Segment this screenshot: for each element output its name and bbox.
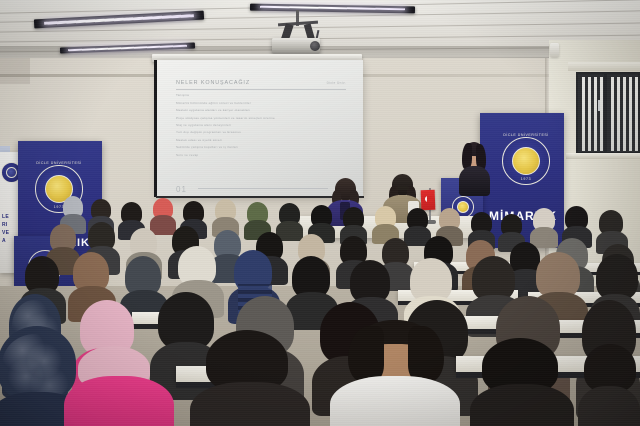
slide-bullet: Soru ve cevap — [176, 153, 346, 157]
wall-beam — [0, 58, 30, 84]
audience-member — [212, 199, 239, 233]
slide-bullet: Sektörde çalışma koşulları ve iş ilanlar… — [176, 145, 346, 149]
banner-fragment: A — [2, 238, 6, 244]
flag-crescent-mask — [427, 196, 432, 202]
banner-fragment: RI — [2, 222, 8, 228]
slide-content: NELER KONUŞACAĞIZ Dicle Üniv. Tanışma Mi… — [176, 80, 346, 180]
seal-institution-text: DİCLE ÜNİVERSİTESİ — [30, 161, 88, 165]
slide-number: 01 — [176, 185, 187, 194]
audience-member — [190, 330, 310, 426]
slide-number-rule — [198, 188, 328, 189]
banner-fragment: LE — [2, 214, 9, 220]
seal-institution-text: DİCLE ÜNİVERSİTESİ — [497, 133, 555, 137]
slide-bullet: Mimarlık bölümünde eğitim süreci ve bekl… — [176, 101, 346, 105]
slide-title: NELER KONUŞACAĞIZ — [176, 80, 346, 86]
slide-bullet: Tanışma — [176, 93, 346, 97]
projector-lens-icon — [310, 41, 320, 51]
audience-member — [578, 344, 640, 426]
slide-bullet: Yurt dışı değişim programları ve Erasmus — [176, 130, 346, 134]
slide-tag: Dicle Üniv. — [327, 81, 346, 85]
window-sill — [566, 153, 640, 159]
window-handle[interactable] — [598, 100, 600, 111]
audience-member — [244, 202, 271, 236]
slide-divider — [176, 89, 346, 90]
speaker-standing — [457, 141, 491, 193]
lecture-hall-photo: NELER KONUŞACAĞIZ Dicle Üniv. Tanışma Mi… — [0, 0, 640, 426]
wall-sensor-icon — [550, 43, 559, 57]
audience-member — [372, 206, 399, 240]
window — [576, 72, 640, 154]
window-header-trim — [568, 62, 640, 71]
slide-bullet: Mesleki uygulama alanları ve kariyer ola… — [176, 108, 346, 112]
banner-fragment: VE — [2, 230, 9, 236]
seal-year: 1973 — [502, 177, 550, 181]
audience-member — [470, 338, 574, 426]
slide-bullet: Proje stüdyosu çalışma yöntemleri ve tas… — [176, 116, 346, 120]
eyeglasses-icon — [396, 186, 409, 190]
slide-bullet: Staj ve uygulama alanı deneyimleri — [176, 123, 346, 127]
slide-bullet: Meslek odası ve üyelik süreci — [176, 138, 346, 142]
window-mullion — [604, 74, 607, 152]
audience-member — [64, 346, 174, 426]
audience-member-front-center — [330, 320, 460, 426]
